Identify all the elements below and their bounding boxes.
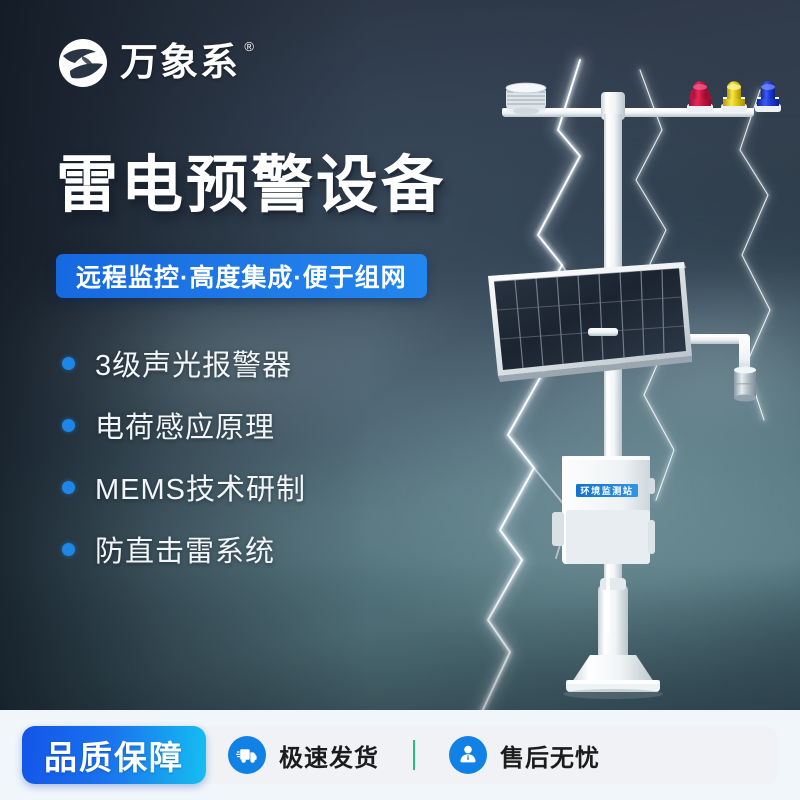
- quality-badge: 品质保障: [22, 726, 206, 784]
- trust-bar: 品质保障 极速发货: [0, 710, 800, 800]
- trust-items-group: 极速发货 售后无忧: [192, 726, 778, 784]
- rain-gauge-sensor: [734, 367, 756, 402]
- brand-logo-row: 万象系 ®: [58, 38, 240, 88]
- delivery-truck-icon: [228, 736, 266, 774]
- quality-badge-label: 品质保障: [44, 731, 184, 779]
- swirl-globe-logo-icon: [58, 38, 108, 88]
- red-alarm-light: [687, 81, 713, 112]
- support-agent-icon: [449, 736, 487, 774]
- subtitle-banner: 远程监控·高度集成·便于组网: [56, 254, 427, 298]
- feature-label: 防直击雷系统: [95, 528, 275, 570]
- radiation-shield-sensor: [506, 83, 546, 115]
- solar-panel: [488, 262, 692, 382]
- trust-item-shipping: 极速发货: [228, 736, 379, 774]
- trust-label: 极速发货: [279, 738, 379, 773]
- page-title: 雷电预警设备: [56, 153, 446, 218]
- control-cabinet: 环境监测站: [552, 456, 655, 564]
- feature-list: 3级声光报警器 电荷感应原理 MEMS技术研制 防直击雷系统: [62, 345, 306, 567]
- cabinet-label-text: 环境监测站: [580, 485, 633, 496]
- base-plate: [563, 655, 663, 699]
- weather-station-product-illustration: 环境监测站: [440, 80, 800, 710]
- divider: [413, 740, 415, 770]
- trust-item-aftersales: 售后无忧: [449, 736, 600, 774]
- bullet-dot-icon: [62, 543, 75, 556]
- list-item: 3级声光报警器: [62, 345, 306, 381]
- yellow-alarm-light: [721, 81, 747, 112]
- product-poster: 环境监测站 万象系 ® 雷电预警设备 远程监控·高度集成·便于组网: [0, 0, 800, 800]
- brand-name-text: 万象系: [120, 42, 240, 84]
- bullet-dot-icon: [62, 419, 75, 432]
- list-item: 电荷感应原理: [62, 407, 306, 443]
- feature-label: 3级声光报警器: [95, 342, 292, 384]
- alarm-light-stack: [687, 81, 781, 112]
- subtitle-text: 远程监控·高度集成·便于组网: [76, 258, 407, 294]
- trust-label: 售后无忧: [500, 738, 600, 773]
- brand-name: 万象系 ®: [120, 44, 240, 82]
- list-item: MEMS技术研制: [62, 469, 306, 505]
- bullet-dot-icon: [62, 481, 75, 494]
- list-item: 防直击雷系统: [62, 531, 306, 567]
- feature-label: MEMS技术研制: [95, 466, 306, 508]
- registered-trademark-mark: ®: [244, 40, 256, 53]
- mast-pole: [598, 92, 628, 680]
- blue-alarm-light: [755, 81, 781, 112]
- feature-label: 电荷感应原理: [95, 404, 275, 446]
- bullet-dot-icon: [62, 357, 75, 370]
